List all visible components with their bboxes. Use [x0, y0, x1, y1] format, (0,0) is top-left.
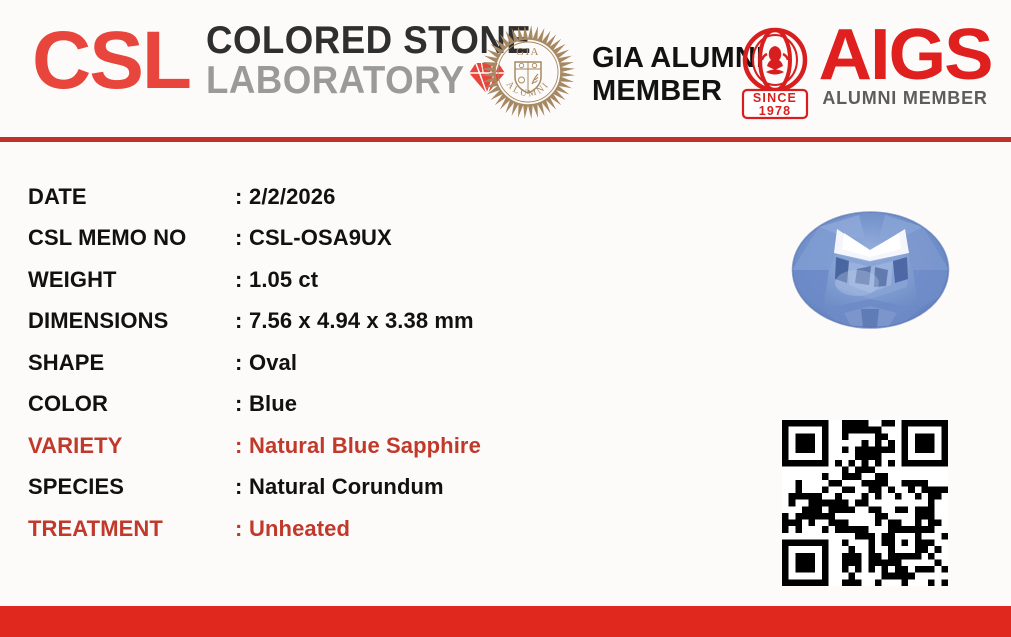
- detail-value: :Blue: [235, 391, 297, 417]
- detail-colon: :: [235, 474, 249, 500]
- detail-colon: :: [235, 225, 249, 251]
- detail-label: DIMENSIONS: [28, 308, 235, 334]
- detail-row: SPECIES:Natural Corundum: [28, 467, 728, 509]
- report-header: CSL COLORED STONE LABORATORY: [0, 0, 1011, 138]
- detail-value-text: 7.56 x 4.94 x 3.38 mm: [249, 308, 474, 333]
- aigs-logo: SINCE 1978 AIGS ALUMNI MEMBER: [733, 24, 989, 125]
- header-divider: [0, 137, 1011, 142]
- detail-label: SHAPE: [28, 350, 235, 376]
- detail-value-text: Natural Blue Sapphire: [249, 433, 481, 458]
- aigs-since-year: 1978: [759, 104, 792, 118]
- detail-colon: :: [235, 184, 249, 210]
- detail-colon: :: [235, 308, 249, 334]
- detail-colon: :: [235, 267, 249, 293]
- aigs-since-label: SINCE: [753, 91, 797, 105]
- detail-colon: :: [235, 391, 249, 417]
- detail-value: :Oval: [235, 350, 297, 376]
- detail-row: SHAPE:Oval: [28, 342, 728, 384]
- gia-alumni-logo: GIA ALUMNI GIA ALUMNI MEMBER: [478, 22, 764, 127]
- gem-details-table: DATE:2/2/2026CSL MEMO NO:CSL-OSA9UXWEIGH…: [28, 176, 728, 550]
- detail-colon: :: [235, 350, 249, 376]
- detail-label: DATE: [28, 184, 235, 210]
- gia-alumni-seal-icon: GIA ALUMNI: [478, 22, 578, 127]
- csl-monogram: CSL: [32, 20, 190, 102]
- detail-row: WEIGHT:1.05 ct: [28, 259, 728, 301]
- detail-value: :Natural Corundum: [235, 474, 444, 500]
- detail-colon: :: [235, 516, 249, 542]
- detail-value: :CSL-OSA9UX: [235, 225, 392, 251]
- csl-wordmark-line2-text: LABORATORY: [206, 62, 465, 99]
- qr-code[interactable]: [780, 420, 950, 586]
- detail-value-text: CSL-OSA9UX: [249, 225, 392, 250]
- aigs-wordmark: AIGS ALUMNI MEMBER: [821, 24, 989, 109]
- csl-logo: CSL COLORED STONE LABORATORY: [32, 20, 552, 102]
- detail-label: COLOR: [28, 391, 235, 417]
- detail-value-text: Blue: [249, 391, 297, 416]
- detail-row: CSL MEMO NO:CSL-OSA9UX: [28, 218, 728, 260]
- gemstone-report-card: CSL COLORED STONE LABORATORY: [0, 0, 1011, 637]
- detail-value-text: 1.05 ct: [249, 267, 318, 292]
- detail-value: :Unheated: [235, 516, 350, 542]
- detail-value-text: 2/2/2026: [249, 184, 335, 209]
- gia-seal-top-text: GIA: [516, 46, 540, 58]
- detail-colon: :: [235, 433, 249, 459]
- detail-label: CSL MEMO NO: [28, 225, 235, 251]
- detail-value: :Natural Blue Sapphire: [235, 433, 481, 459]
- detail-row: DIMENSIONS:7.56 x 4.94 x 3.38 mm: [28, 301, 728, 343]
- detail-label: VARIETY: [28, 433, 235, 459]
- detail-value-text: Unheated: [249, 516, 350, 541]
- aigs-monogram: AIGS: [818, 24, 991, 87]
- detail-value: :7.56 x 4.94 x 3.38 mm: [235, 308, 474, 334]
- detail-row: VARIETY:Natural Blue Sapphire: [28, 425, 728, 467]
- detail-label: TREATMENT: [28, 516, 235, 542]
- detail-label: WEIGHT: [28, 267, 235, 293]
- detail-value: :1.05 ct: [235, 267, 318, 293]
- detail-value-text: Natural Corundum: [249, 474, 444, 499]
- detail-label: SPECIES: [28, 474, 235, 500]
- detail-row: TREATMENT:Unheated: [28, 508, 728, 550]
- oval-blue-sapphire-photo: [789, 209, 952, 331]
- detail-value: :2/2/2026: [235, 184, 335, 210]
- footer-bar: [0, 606, 1011, 637]
- detail-row: COLOR:Blue: [28, 384, 728, 426]
- detail-value-text: Oval: [249, 350, 297, 375]
- detail-row: DATE:2/2/2026: [28, 176, 728, 218]
- aigs-globe-emblem-icon: SINCE 1978: [733, 24, 817, 125]
